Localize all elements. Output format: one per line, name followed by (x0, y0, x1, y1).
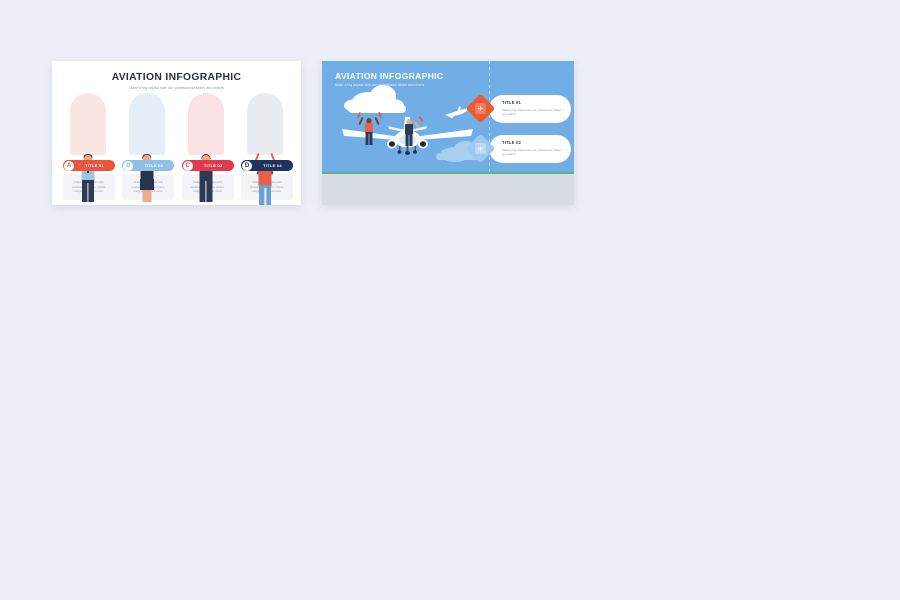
badge-a[interactable]: A TITLE 01 (63, 160, 115, 171)
arch-background-c (188, 93, 224, 155)
column-d[interactable]: D TITLE 04 Make a big impact with profes… (238, 93, 293, 200)
arch-background-a (70, 93, 106, 155)
badge-label-c: TITLE 03 (193, 163, 234, 168)
tarmac-ground (322, 174, 574, 205)
slide-two-subtitle: Make a big impact with our professional … (335, 83, 424, 87)
callout-body-1: TITLE 01 Make a big impact with our prof… (489, 95, 571, 123)
badge-row-d: D TITLE 04 (238, 160, 293, 171)
badge-label-b: TITLE 02 (133, 163, 174, 168)
badge-row-c: C TITLE 03 (179, 160, 234, 171)
badge-letter-c: C (183, 161, 193, 171)
badge-letter-a: A (64, 161, 74, 171)
column-c[interactable]: C TITLE 03 Make a big impact with profes… (179, 93, 234, 200)
callout-title-2: TITLE 02 (502, 140, 563, 145)
column-a[interactable]: A TITLE 01 Make a big impact with profes… (60, 93, 115, 200)
callout-title-1: TITLE 01 (502, 100, 563, 105)
callout-body-2: TITLE 02 Make a big impact with our prof… (489, 135, 571, 163)
column-b[interactable]: B TITLE 02 Make a big impact with profes… (119, 93, 174, 200)
slide-one-title: AVIATION INFOGRAPHIC (52, 72, 301, 83)
callout-text-1: Make a big impact with our professional … (502, 108, 563, 117)
badge-row-a: A TITLE 01 (60, 160, 115, 171)
marshaller-figure (359, 113, 379, 143)
airplane-badge-icon: ✈ (475, 103, 486, 114)
slide-aviation-characters[interactable]: AVIATION INFOGRAPHIC Make a big impact w… (52, 61, 301, 205)
ground-crew-figure (399, 113, 419, 143)
slide-aviation-scene[interactable]: AVIATION INFOGRAPHIC Make a big impact w… (322, 61, 574, 205)
slide-two-title: AVIATION INFOGRAPHIC (335, 71, 443, 81)
callout-text-2: Make a big impact with our professional … (502, 148, 563, 157)
badge-letter-b: B (123, 161, 133, 171)
timeline-divider (489, 61, 490, 174)
badge-d[interactable]: D TITLE 04 (241, 160, 293, 171)
badge-b[interactable]: B TITLE 02 (122, 160, 174, 171)
slide-one-subtitle: Make a big impact with our professional … (52, 86, 301, 90)
badge-c[interactable]: C TITLE 03 (182, 160, 234, 171)
badge-letter-d: D (242, 161, 252, 171)
badge-row-b: B TITLE 02 (119, 160, 174, 171)
slide-one-columns: A TITLE 01 Make a big impact with profes… (60, 93, 293, 200)
airplane-badge-icon: ✈ (475, 143, 486, 154)
badge-label-d: TITLE 04 (252, 163, 293, 168)
badge-label-a: TITLE 01 (74, 163, 115, 168)
arch-background-b (129, 93, 165, 155)
arch-background-d (247, 93, 283, 155)
